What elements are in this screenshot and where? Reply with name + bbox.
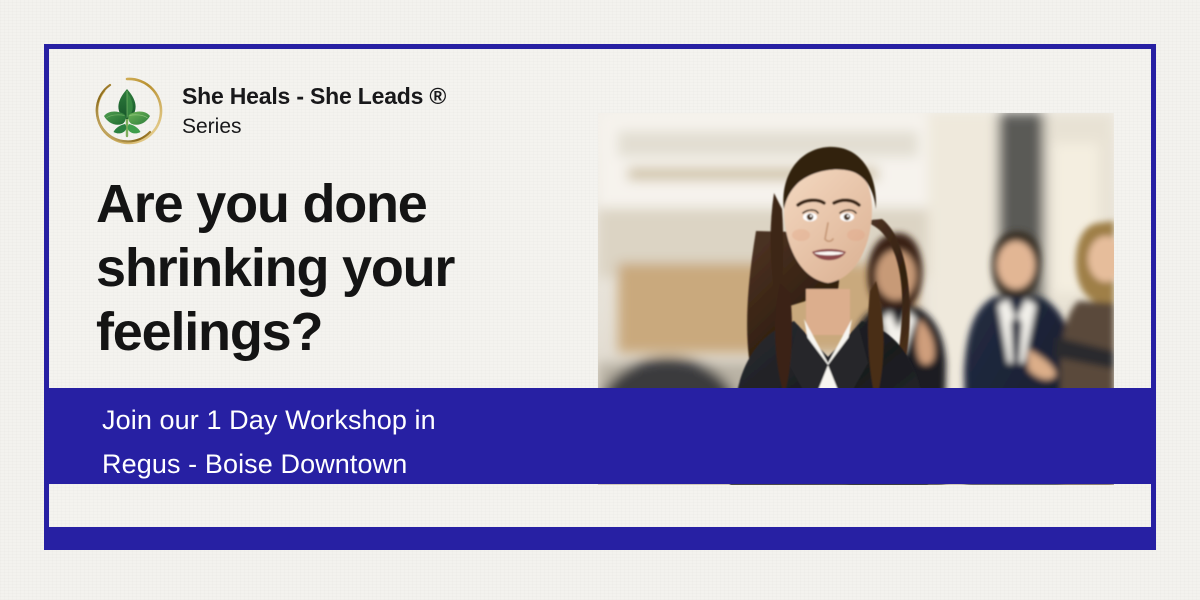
- cta-band: Join our 1 Day Workshop in Regus - Boise…: [44, 388, 1156, 484]
- brand-name: She Heals - She Leads ®: [182, 83, 446, 111]
- cta-text: Join our 1 Day Workshop in Regus - Boise…: [102, 398, 436, 486]
- poster-canvas: She Heals - She Leads ® Series Are you d…: [0, 0, 1200, 600]
- brand-subtitle: Series: [182, 113, 446, 141]
- headline: Are you done shrinking your feelings?: [96, 172, 566, 364]
- brand-text: She Heals - She Leads ® Series: [182, 81, 446, 142]
- brand-lockup: She Heals - She Leads ® Series: [88, 72, 446, 150]
- leaf-plant-in-gold-circle-icon: [88, 72, 166, 150]
- bottom-accent-bar: [44, 527, 1156, 550]
